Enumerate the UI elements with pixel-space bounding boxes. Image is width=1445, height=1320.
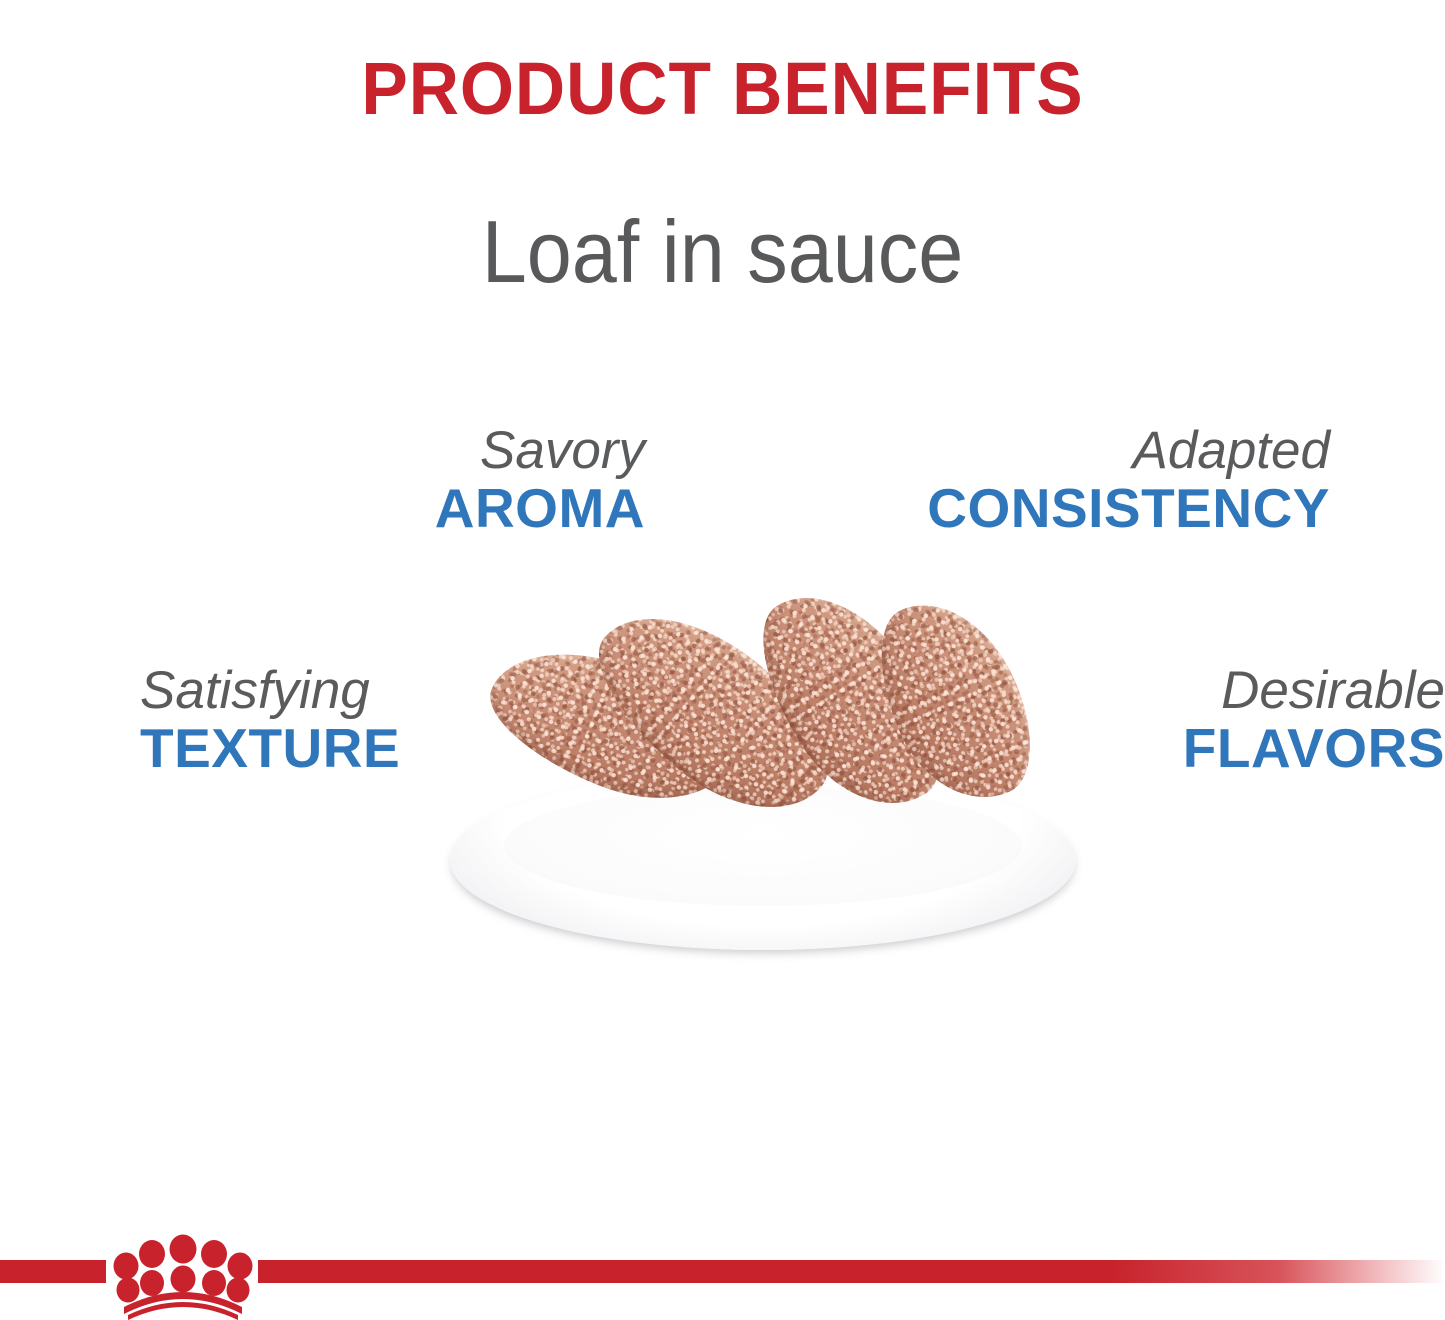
benefit-consistency-noun: CONSISTENCY <box>0 478 1330 540</box>
page-title: PRODUCT BENEFITS <box>43 52 1401 126</box>
benefit-consistency: Adapted CONSISTENCY <box>0 424 1330 540</box>
benefit-consistency-adjective: Adapted <box>0 424 1330 478</box>
product-food-image <box>432 600 1092 990</box>
royal-canin-crown-icon <box>104 1228 262 1320</box>
page-subtitle: Loaf in sauce <box>58 206 1387 298</box>
footer-rule-left <box>0 1260 106 1283</box>
product-benefits-page: PRODUCT BENEFITS Loaf in sauce Savory AR… <box>0 0 1445 1320</box>
footer-rule-right <box>258 1260 1445 1283</box>
